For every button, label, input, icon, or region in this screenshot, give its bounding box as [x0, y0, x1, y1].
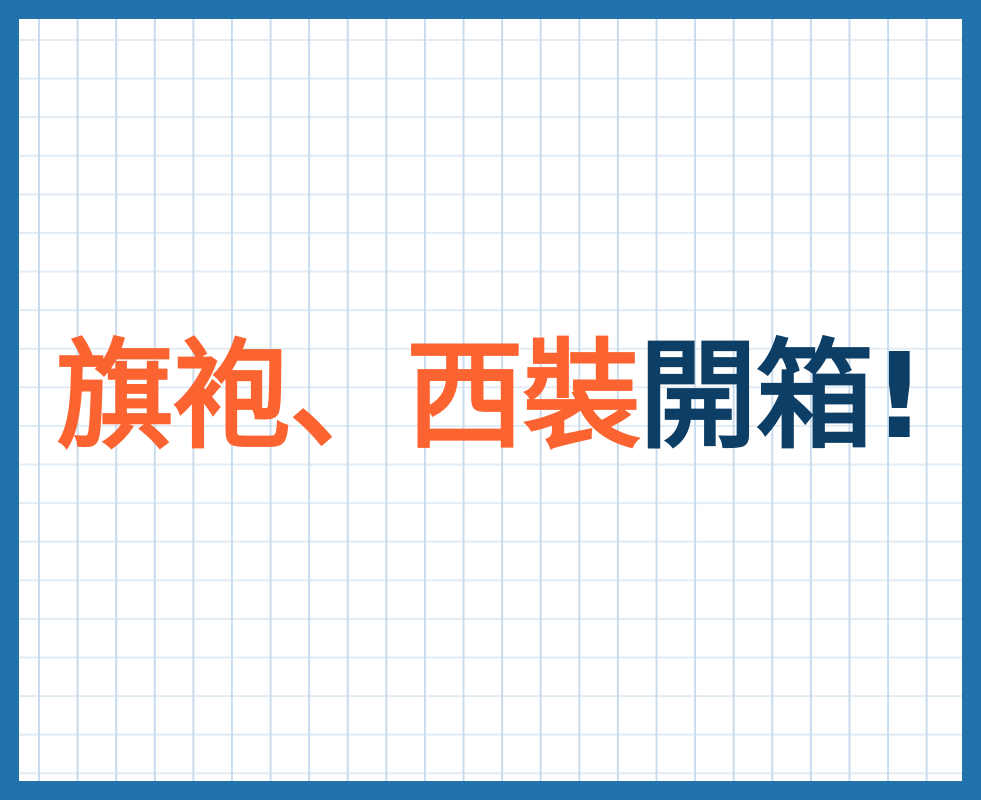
page-title: 旗袍、西裝開箱! [56, 334, 925, 465]
headline-segment-primary: 開箱! [639, 327, 925, 465]
headline-container: 旗袍、西裝開箱! [19, 19, 962, 781]
poster-canvas: 旗袍、西裝開箱! [0, 0, 981, 800]
headline-segment-highlight: 旗袍、西裝 [56, 327, 639, 465]
